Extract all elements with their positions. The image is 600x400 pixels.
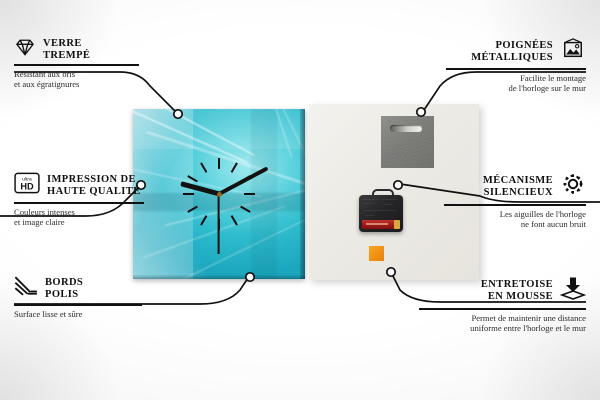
ultra-hd-icon: ultra HD <box>14 172 40 199</box>
connector-endpoint-poignees <box>417 108 425 116</box>
feature-title-line1: POIGNÉES <box>471 40 553 52</box>
feature-divider <box>446 68 586 70</box>
feature-subtitle-line1: Surface lisse et sûre <box>14 309 142 319</box>
feature-divider <box>444 204 586 206</box>
connector-endpoint-bords-polis <box>246 273 254 281</box>
feature-subtitle-line1: Résistant aux bris <box>14 69 139 79</box>
diamond-icon <box>14 38 36 61</box>
feature-divider <box>14 304 142 306</box>
feature-title-line2: SILENCIEUX <box>483 187 553 199</box>
feature-divider <box>14 64 139 66</box>
feature-title-line2: POLIS <box>45 289 83 301</box>
feature-impression-haute-qualite: ultra HD IMPRESSION DE HAUTE QUALITÉ Cou… <box>14 172 144 227</box>
svg-text:HD: HD <box>20 181 34 191</box>
feature-title-line2: HAUTE QUALITÉ <box>47 186 141 198</box>
feature-subtitle-line2: et aux égratignures <box>14 79 139 89</box>
feature-subtitle-line2: ne font aucun bruit <box>444 219 586 229</box>
feature-entretoise-en-mousse: ENTRETOISE EN MOUSSE Permet de maintenir… <box>419 276 586 333</box>
feature-divider <box>14 202 144 204</box>
picture-hanger-icon <box>560 38 586 65</box>
feature-divider <box>419 308 586 310</box>
feature-mecanisme-silencieux: MÉCANISME SILENCIEUX Les aiguilles de l'… <box>444 172 586 229</box>
foam-spacer-arrow-icon <box>560 276 586 305</box>
feature-subtitle-line1: Facilite le montage <box>446 73 586 83</box>
feature-subtitle-line1: Permet de maintenir une distance <box>419 313 586 323</box>
feature-subtitle-line2: et image claire <box>14 217 144 227</box>
connector-endpoint-entretoise <box>387 268 395 276</box>
gear-icon <box>560 172 586 201</box>
feature-subtitle-line1: Couleurs intenses <box>14 207 144 217</box>
feature-title-line1: BORDS <box>45 277 83 289</box>
feature-subtitle-line2: de l'horloge sur le mur <box>446 83 586 93</box>
infographic-canvas: VERRE TREMPÉ Résistant aux bris et aux é… <box>0 0 600 400</box>
connector-endpoint-mecanisme <box>394 181 402 189</box>
feature-poignees-metalliques: POIGNÉES MÉTALLIQUES Facilite le montage… <box>446 38 586 93</box>
feature-title-line2: TREMPÉ <box>43 50 90 62</box>
feature-title-line1: MÉCANISME <box>483 175 553 187</box>
feature-subtitle-line1: Les aiguilles de l'horloge <box>444 209 586 219</box>
feature-title-line1: VERRE <box>43 38 90 50</box>
feature-title-line1: ENTRETOISE <box>481 279 553 291</box>
feature-title-line1: IMPRESSION DE <box>47 174 141 186</box>
polished-edges-icon <box>14 276 38 301</box>
feature-subtitle-line2: uniforme entre l'horloge et le mur <box>419 323 586 333</box>
feature-bords-polis: BORDS POLIS Surface lisse et sûre <box>14 276 142 319</box>
feature-title-line2: EN MOUSSE <box>481 291 553 303</box>
feature-verre-trempe: VERRE TREMPÉ Résistant aux bris et aux é… <box>14 38 139 89</box>
feature-title-line2: MÉTALLIQUES <box>471 52 553 64</box>
connector-endpoint-verre-trempe <box>174 110 182 118</box>
